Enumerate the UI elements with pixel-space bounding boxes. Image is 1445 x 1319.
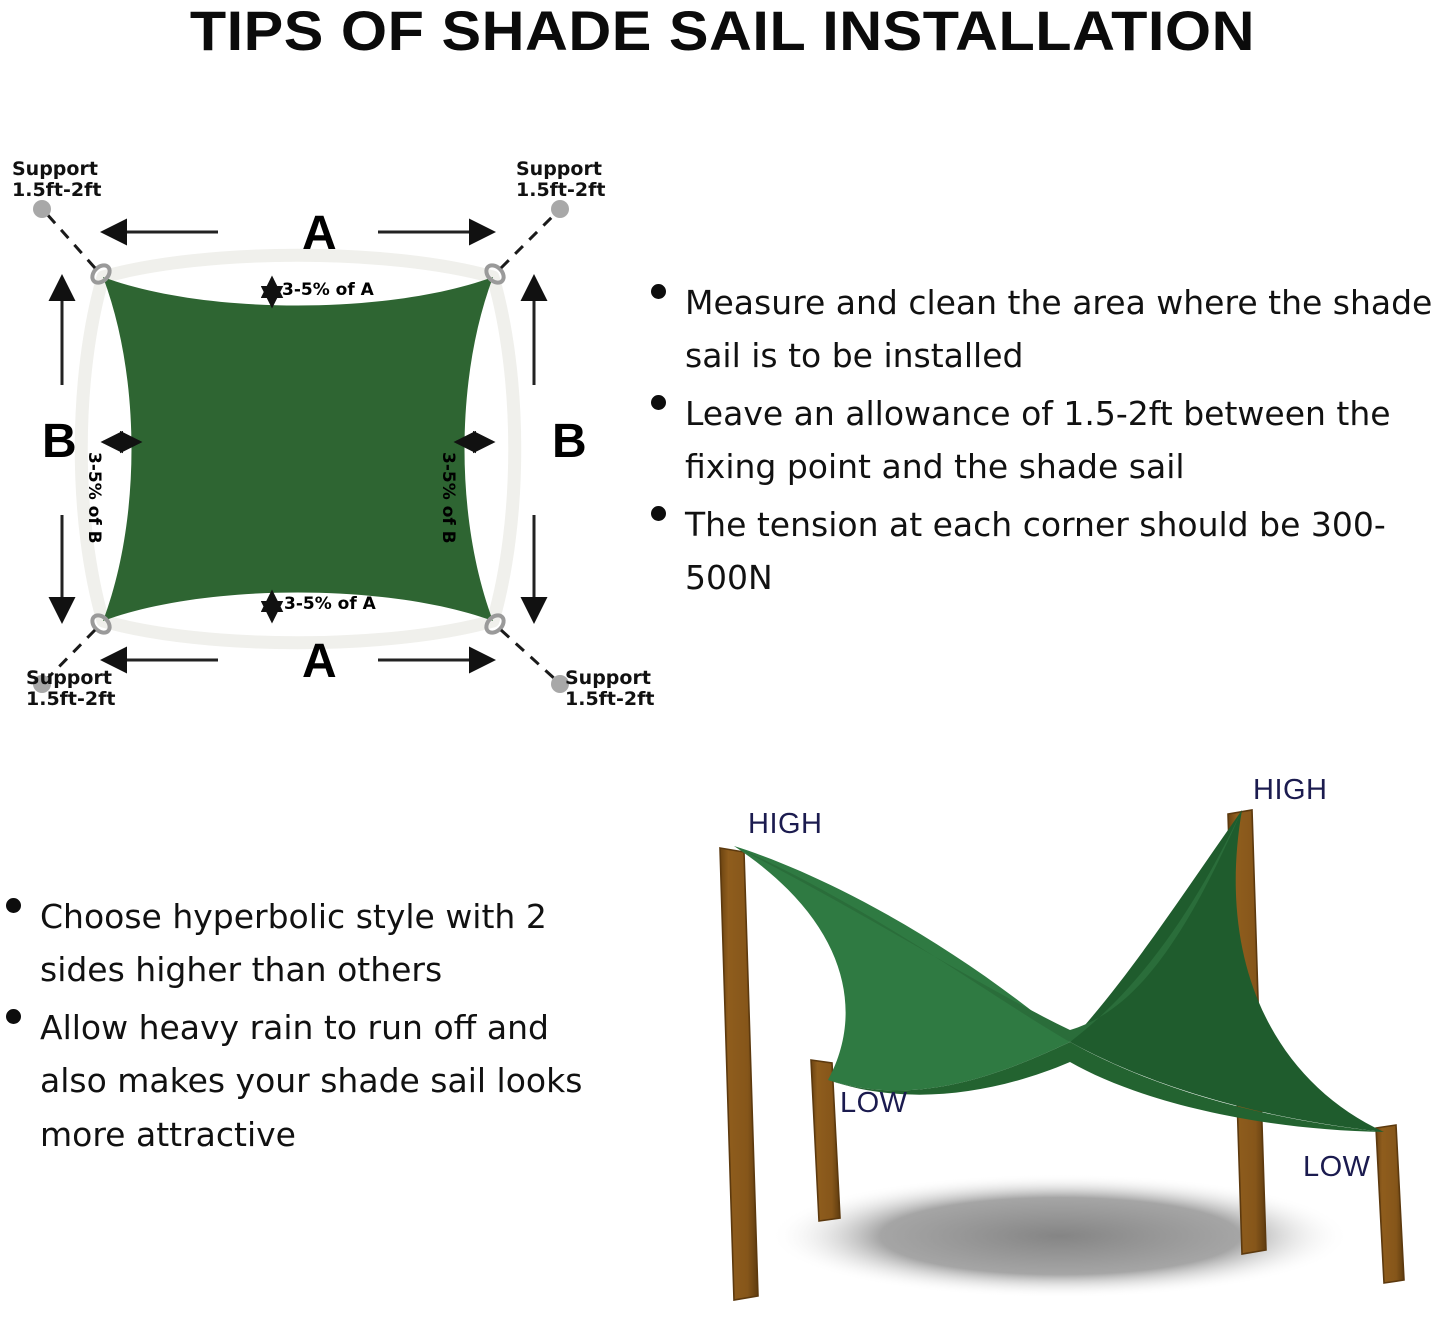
tip-text: Leave an allowance of 1.5-2ft between th… <box>685 387 1445 494</box>
tip-text: The tension at each corner should be 300… <box>685 498 1445 605</box>
hyperbolic-sail-svg <box>660 780 1445 1319</box>
tip-text: Choose hyperbolic style with 2 sides hig… <box>40 890 625 997</box>
hyperbolic-sail-diagram: HIGH HIGH LOW LOW <box>660 780 1445 1319</box>
tip-text: Allow heavy rain to run off and also mak… <box>40 1001 625 1161</box>
bullet-dot-icon <box>651 506 666 521</box>
page-title: TIPS OF SHADE SAIL INSTALLATION <box>190 3 1255 59</box>
label-low-left: LOW <box>840 1087 908 1120</box>
rectangular-sail-diagram: A A B B 3-5% of A 3-5% of A 3-5% of B 3-… <box>0 160 660 730</box>
support-label-top-right: Support 1.5ft-2ft <box>516 159 605 202</box>
shade-sail-shape <box>103 277 493 621</box>
tips-right-list: Measure and clean the area where the sha… <box>645 276 1445 605</box>
support-dot-top-right <box>551 200 569 218</box>
tips-bottom-list: Choose hyperbolic style with 2 sides hig… <box>0 890 625 1161</box>
dimension-label-b-left: B <box>42 418 77 466</box>
list-item: Leave an allowance of 1.5-2ft between th… <box>645 387 1445 494</box>
installation-tips-list-right: Measure and clean the area where the sha… <box>645 276 1445 609</box>
bullet-dot-icon <box>651 284 666 299</box>
dimension-label-a-bottom: A <box>302 638 337 686</box>
bullet-dot-icon <box>651 395 666 410</box>
post-low-left <box>811 1060 840 1221</box>
bullet-dot-icon <box>6 898 21 913</box>
support-label-bottom-left: Support 1.5ft-2ft <box>26 668 115 711</box>
list-item: Measure and clean the area where the sha… <box>645 276 1445 383</box>
bullet-dot-icon <box>6 1009 21 1024</box>
support-line-top-left <box>46 213 95 268</box>
post-high-left <box>720 848 758 1300</box>
list-item: Choose hyperbolic style with 2 sides hig… <box>0 890 625 997</box>
list-item: Allow heavy rain to run off and also mak… <box>0 1001 625 1161</box>
tip-text: Measure and clean the area where the sha… <box>685 276 1445 383</box>
support-line-bottom-right <box>501 630 556 680</box>
label-high-right: HIGH <box>1253 774 1328 807</box>
dimension-label-a-top: A <box>302 210 337 258</box>
post-low-right <box>1376 1125 1404 1283</box>
support-label-bottom-right: Support 1.5ft-2ft <box>565 668 654 711</box>
sag-label-top: 3-5% of A <box>282 280 374 300</box>
installation-tips-list-bottom-left: Choose hyperbolic style with 2 sides hig… <box>0 890 625 1165</box>
sail-panel-light <box>734 846 1070 1090</box>
list-item: The tension at each corner should be 300… <box>645 498 1445 605</box>
label-low-right: LOW <box>1303 1151 1371 1184</box>
support-label-top-left: Support 1.5ft-2ft <box>12 159 101 202</box>
sag-label-right: 3-5% of B <box>438 452 458 544</box>
dimension-label-b-right: B <box>552 418 587 466</box>
label-high-left: HIGH <box>748 808 823 841</box>
support-dot-top-left <box>33 200 51 218</box>
support-line-top-right <box>501 213 556 268</box>
sag-label-left: 3-5% of B <box>84 452 104 544</box>
page-title-bar: TIPS OF SHADE SAIL INSTALLATION <box>0 0 1445 62</box>
sag-label-bottom: 3-5% of A <box>284 594 376 614</box>
